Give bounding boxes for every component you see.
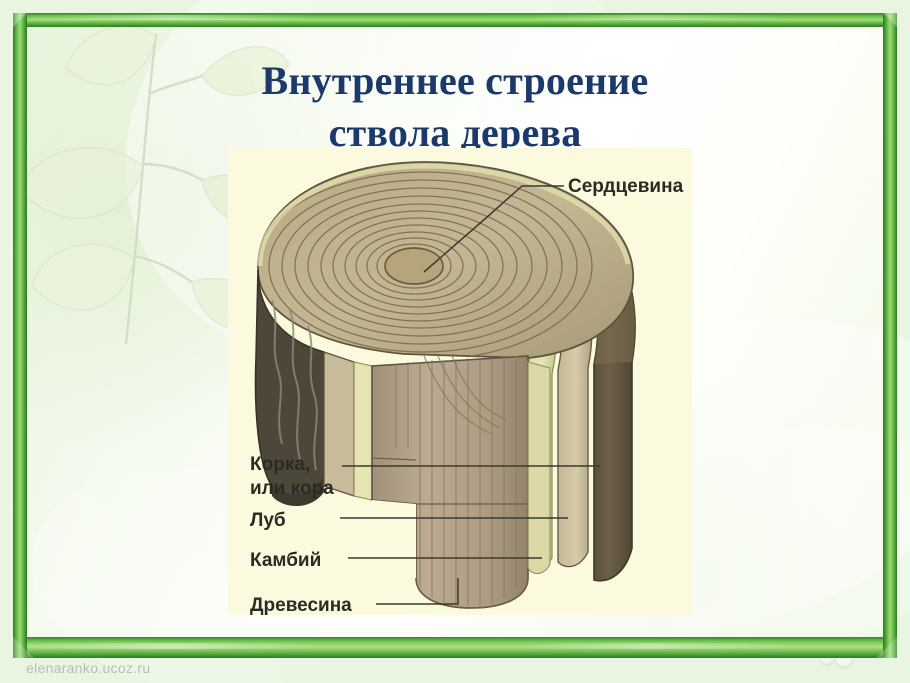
- site-watermark: elenaranko.ucoz.ru: [26, 660, 150, 676]
- frame-corner: [883, 13, 897, 27]
- label-bark-line-2: или кора: [250, 478, 334, 499]
- frame-border-right: [883, 13, 897, 658]
- cambium-inner-strip: [528, 362, 550, 574]
- frame-corner: [876, 637, 897, 658]
- cut-cambium-strip: [354, 362, 372, 500]
- frame-corner: [13, 13, 27, 27]
- cut-notch-void: [372, 500, 416, 578]
- frame-border-left: [13, 13, 27, 658]
- label-pith: Сердцевина: [568, 176, 684, 197]
- diagram-panel: Сердцевина Корка, или кора Луб Камбий Др…: [228, 148, 692, 615]
- pith-core: [385, 248, 443, 284]
- frame-corner: [13, 637, 34, 658]
- label-bast: Луб: [250, 510, 286, 531]
- label-cambium: Камбий: [250, 550, 321, 571]
- page-title: Внутреннее строение ствола дерева: [110, 55, 800, 159]
- tree-trunk-diagram: Сердцевина Корка, или кора Луб Камбий Др…: [228, 148, 692, 615]
- frame-gloss-highlight: [13, 15, 897, 20]
- slide: Внутреннее строение ствола дерева: [0, 0, 910, 683]
- page-title-line-1: Внутреннее строение: [110, 55, 800, 107]
- label-bark-line-1: Корка,: [250, 454, 310, 475]
- cut-bast-strip: [324, 352, 354, 496]
- frame-gloss-highlight: [13, 643, 897, 649]
- label-wood: Древесина: [250, 595, 352, 615]
